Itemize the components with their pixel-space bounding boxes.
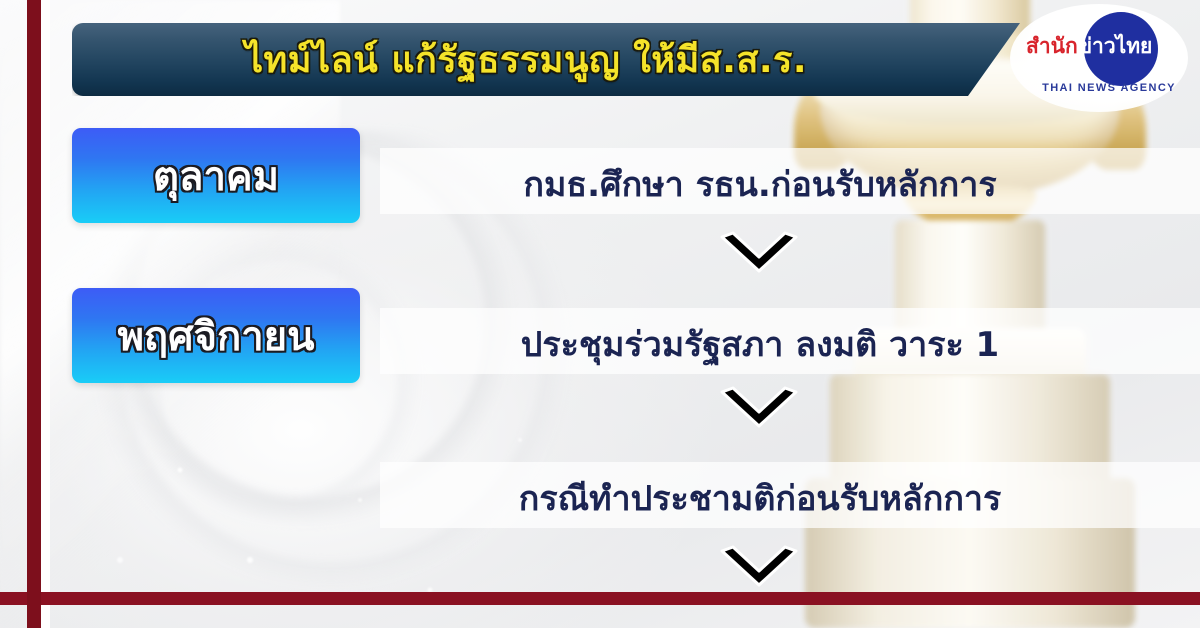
logo-wordmark: สำนักข่าวไทย	[1026, 30, 1172, 63]
vertical-rule	[27, 0, 41, 628]
page-title: ไทม์ไลน์ แก้รัฐธรรมนูญ ให้มีส.ส.ร.	[245, 31, 847, 88]
title-bar: ไทม์ไลน์ แก้รัฐธรรมนูญ ให้มีส.ส.ร.	[72, 23, 1020, 96]
month-badge-october-label: ตุลาคม	[153, 144, 279, 208]
chevron-down-icon	[717, 386, 801, 436]
month-badge-november-label: พฤศจิกายน	[118, 304, 315, 368]
timeline-step-1: กมธ.ศึกษา รธน.ก่อนรับหลักการ	[380, 157, 1140, 211]
horizontal-rule	[0, 592, 1200, 605]
chevron-down-icon	[717, 545, 801, 595]
infographic-canvas: ไทม์ไลน์ แก้รัฐธรรมนูญ ให้มีส.ส.ร. สำนัก…	[0, 0, 1200, 628]
logo-word-red: สำนัก	[1026, 34, 1078, 58]
timeline-step-3: กรณีทำประชามติก่อนรับหลักการ	[380, 471, 1140, 525]
logo-subtitle: THAI NEWS AGENCY	[1034, 82, 1184, 94]
month-badge-october: ตุลาคม	[72, 128, 360, 223]
month-badge-november: พฤศจิกายน	[72, 288, 360, 383]
thai-news-agency-logo: สำนักข่าวไทย THAI NEWS AGENCY	[1010, 4, 1188, 112]
logo-word-white: ข่าวไทย	[1078, 34, 1153, 58]
chevron-down-icon	[717, 231, 801, 281]
rule-gap-spacer	[41, 0, 50, 628]
timeline-step-2: ประชุมร่วมรัฐสภา ลงมติ วาระ 1	[380, 317, 1140, 371]
